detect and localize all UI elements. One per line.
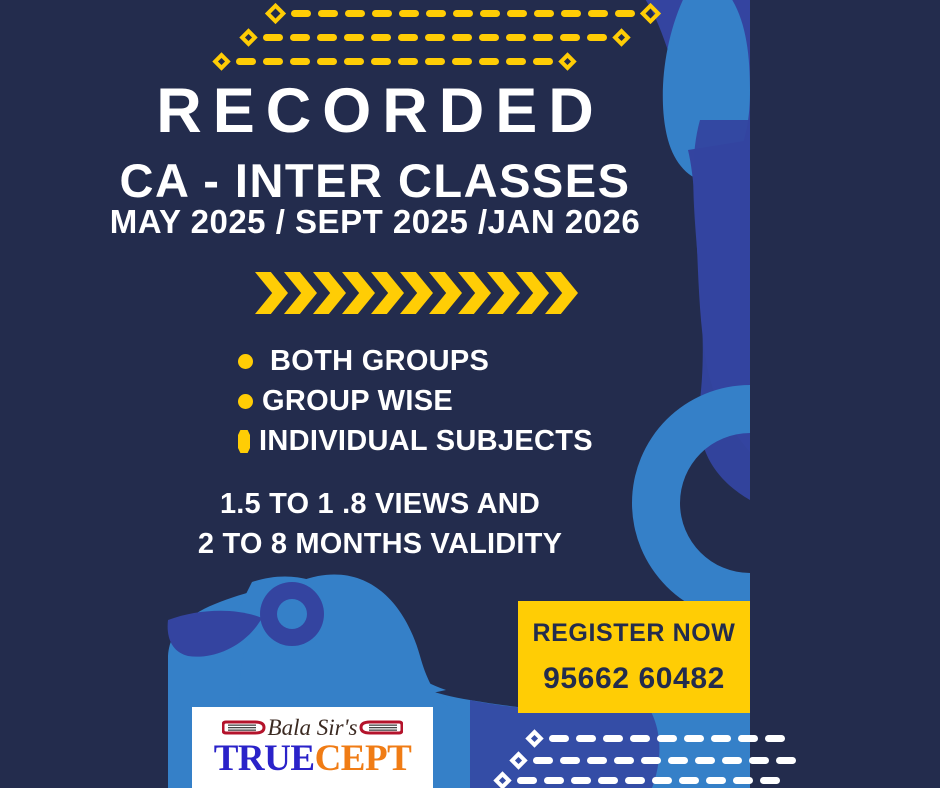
bottom-dash-row-3 bbox=[496, 774, 787, 787]
chevron-icon bbox=[458, 272, 491, 314]
list-item-label: INDIVIDUAL SUBJECTS bbox=[259, 425, 593, 458]
diamond-marker-icon bbox=[493, 771, 511, 788]
chevron-icon bbox=[487, 272, 520, 314]
diamond-marker-icon bbox=[640, 3, 661, 24]
chevron-icon bbox=[342, 272, 375, 314]
logo-owner-name: Bala Sir's bbox=[268, 716, 358, 739]
bottom-blob-hump bbox=[240, 574, 486, 724]
chevron-icon bbox=[545, 272, 578, 314]
logo-name-row: Bala Sir's bbox=[222, 713, 404, 741]
diamond-marker-icon bbox=[212, 52, 230, 70]
validity-details: 1.5 TO 1 .8 VIEWS AND 2 TO 8 MONTHS VALI… bbox=[0, 484, 760, 564]
poster-canvas: RECORDED CA - INTER CLASSES MAY 2025 / S… bbox=[0, 0, 940, 788]
top-dash-row-3 bbox=[215, 55, 574, 68]
hex-bullet-icon bbox=[238, 394, 253, 409]
bottom-dash-row-1 bbox=[528, 732, 792, 745]
top-dash-row-1 bbox=[268, 6, 658, 21]
page-title: RECORDED bbox=[0, 80, 750, 143]
chevron-icon bbox=[371, 272, 404, 314]
diamond-marker-icon bbox=[612, 28, 630, 46]
chevron-icon bbox=[284, 272, 317, 314]
batch-dates: MAY 2025 / SEPT 2025 /JAN 2026 bbox=[0, 205, 750, 238]
book-icon bbox=[222, 719, 267, 736]
register-label: REGISTER NOW bbox=[532, 619, 735, 648]
list-item: GROUP WISE bbox=[238, 385, 593, 418]
chevron-icon bbox=[313, 272, 346, 314]
validity-line: 2 TO 8 MONTHS VALIDITY bbox=[0, 524, 760, 564]
list-item-label: GROUP WISE bbox=[262, 385, 453, 418]
book-icon bbox=[358, 719, 403, 736]
diamond-marker-icon bbox=[509, 751, 527, 769]
list-item: INDIVIDUAL SUBJECTS bbox=[238, 425, 593, 458]
page-subtitle: CA - INTER CLASSES bbox=[0, 157, 750, 204]
chevron-icon bbox=[255, 272, 288, 314]
logo-brand-part2: CEPT bbox=[315, 738, 412, 779]
list-item: BOTH GROUPS bbox=[238, 345, 593, 378]
chevron-divider bbox=[255, 272, 574, 314]
hex-bullet-icon bbox=[238, 430, 250, 453]
bottom-blue-blob-upper bbox=[238, 576, 446, 697]
diamond-marker-icon bbox=[239, 28, 257, 46]
top-dash-row-2 bbox=[242, 31, 628, 44]
diamond-marker-icon bbox=[265, 3, 286, 24]
logo-brand-part1: TRUE bbox=[214, 738, 315, 779]
diamond-marker-icon bbox=[525, 729, 543, 747]
register-now-button[interactable]: REGISTER NOW 95662 60482 bbox=[518, 601, 750, 713]
hex-bullet-icon bbox=[238, 354, 253, 369]
brand-logo: Bala Sir's TRUECEPT bbox=[192, 707, 433, 788]
bottom-dash-row-2 bbox=[512, 754, 803, 767]
blob-indigo-crescent bbox=[168, 611, 262, 657]
chevron-icon bbox=[516, 272, 549, 314]
blob-ring-inner bbox=[277, 599, 307, 629]
chevron-icon bbox=[400, 272, 433, 314]
views-line: 1.5 TO 1 .8 VIEWS AND bbox=[0, 484, 760, 524]
blob-ring-outer bbox=[260, 582, 324, 646]
phone-number[interactable]: 95662 60482 bbox=[543, 662, 725, 696]
feature-list: BOTH GROUPS GROUP WISE INDIVIDUAL SUBJEC… bbox=[238, 345, 593, 465]
diamond-marker-icon bbox=[558, 52, 576, 70]
chevron-icon bbox=[429, 272, 462, 314]
logo-brand-row: TRUECEPT bbox=[214, 740, 412, 777]
list-item-label: BOTH GROUPS bbox=[270, 345, 489, 378]
